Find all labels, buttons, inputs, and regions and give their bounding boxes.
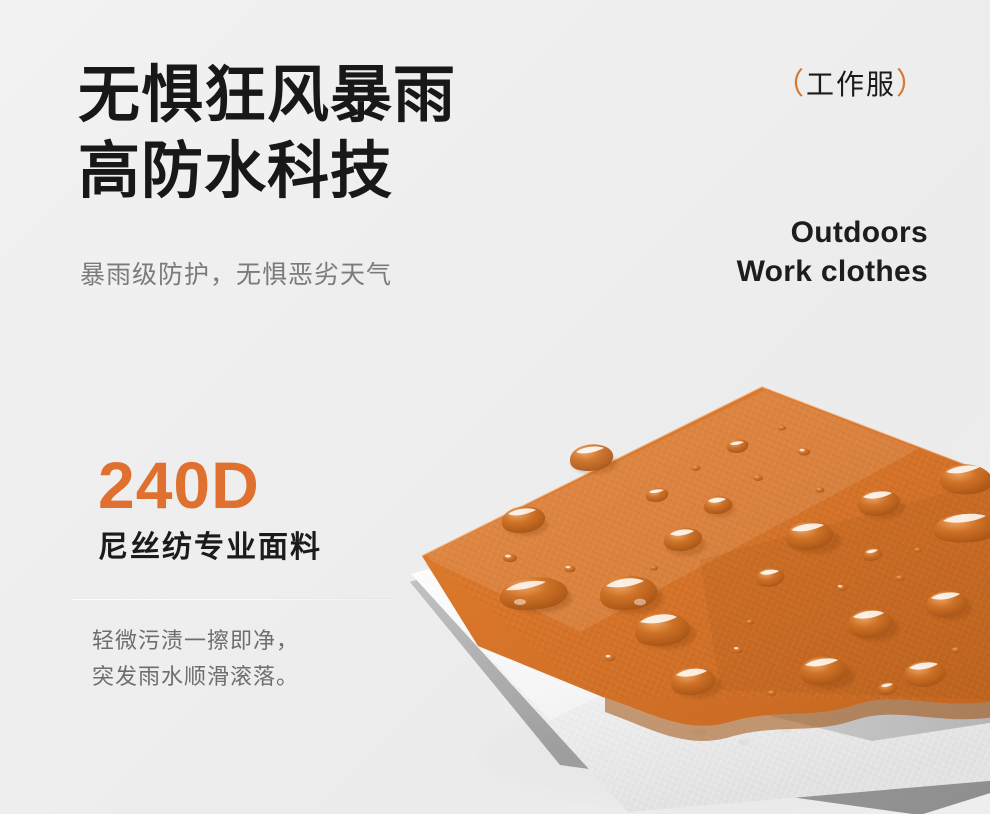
category-badge: （工作服） [774,66,928,104]
spec-denier-value: 240D [98,447,260,523]
product-image-fabric-swatch [400,360,990,814]
section-divider [72,598,390,600]
badge-open-paren: （ [774,68,806,101]
english-line-2: Work clothes [737,252,928,291]
product-detail-banner: 无惧狂风暴雨 高防水科技 暴雨级防护，无惧恶劣天气 （工作服） Outdoors… [0,0,990,814]
english-tagline-block: Outdoors Work clothes [737,213,928,291]
headline-block: 无惧狂风暴雨 高防水科技 [78,58,638,210]
badge-close-paren: ） [896,68,928,101]
headline-line-1: 无惧狂风暴雨 [78,58,638,134]
fabric-note-line-2: 突发雨水顺滑滚落。 [92,659,299,695]
fabric-note-line-1: 轻微污渍一擦即净， [92,623,299,659]
english-line-1: Outdoors [737,213,928,252]
subtitle: 暴雨级防护，无惧恶劣天气 [80,258,392,292]
spec-fabric-label: 尼丝纺专业面料 [98,527,322,569]
badge-label: 工作服 [806,69,896,100]
fabric-swatch-illustration [400,360,990,814]
fabric-note-block: 轻微污渍一擦即净， 突发雨水顺滑滚落。 [92,623,299,695]
headline-line-2: 高防水科技 [78,134,638,210]
